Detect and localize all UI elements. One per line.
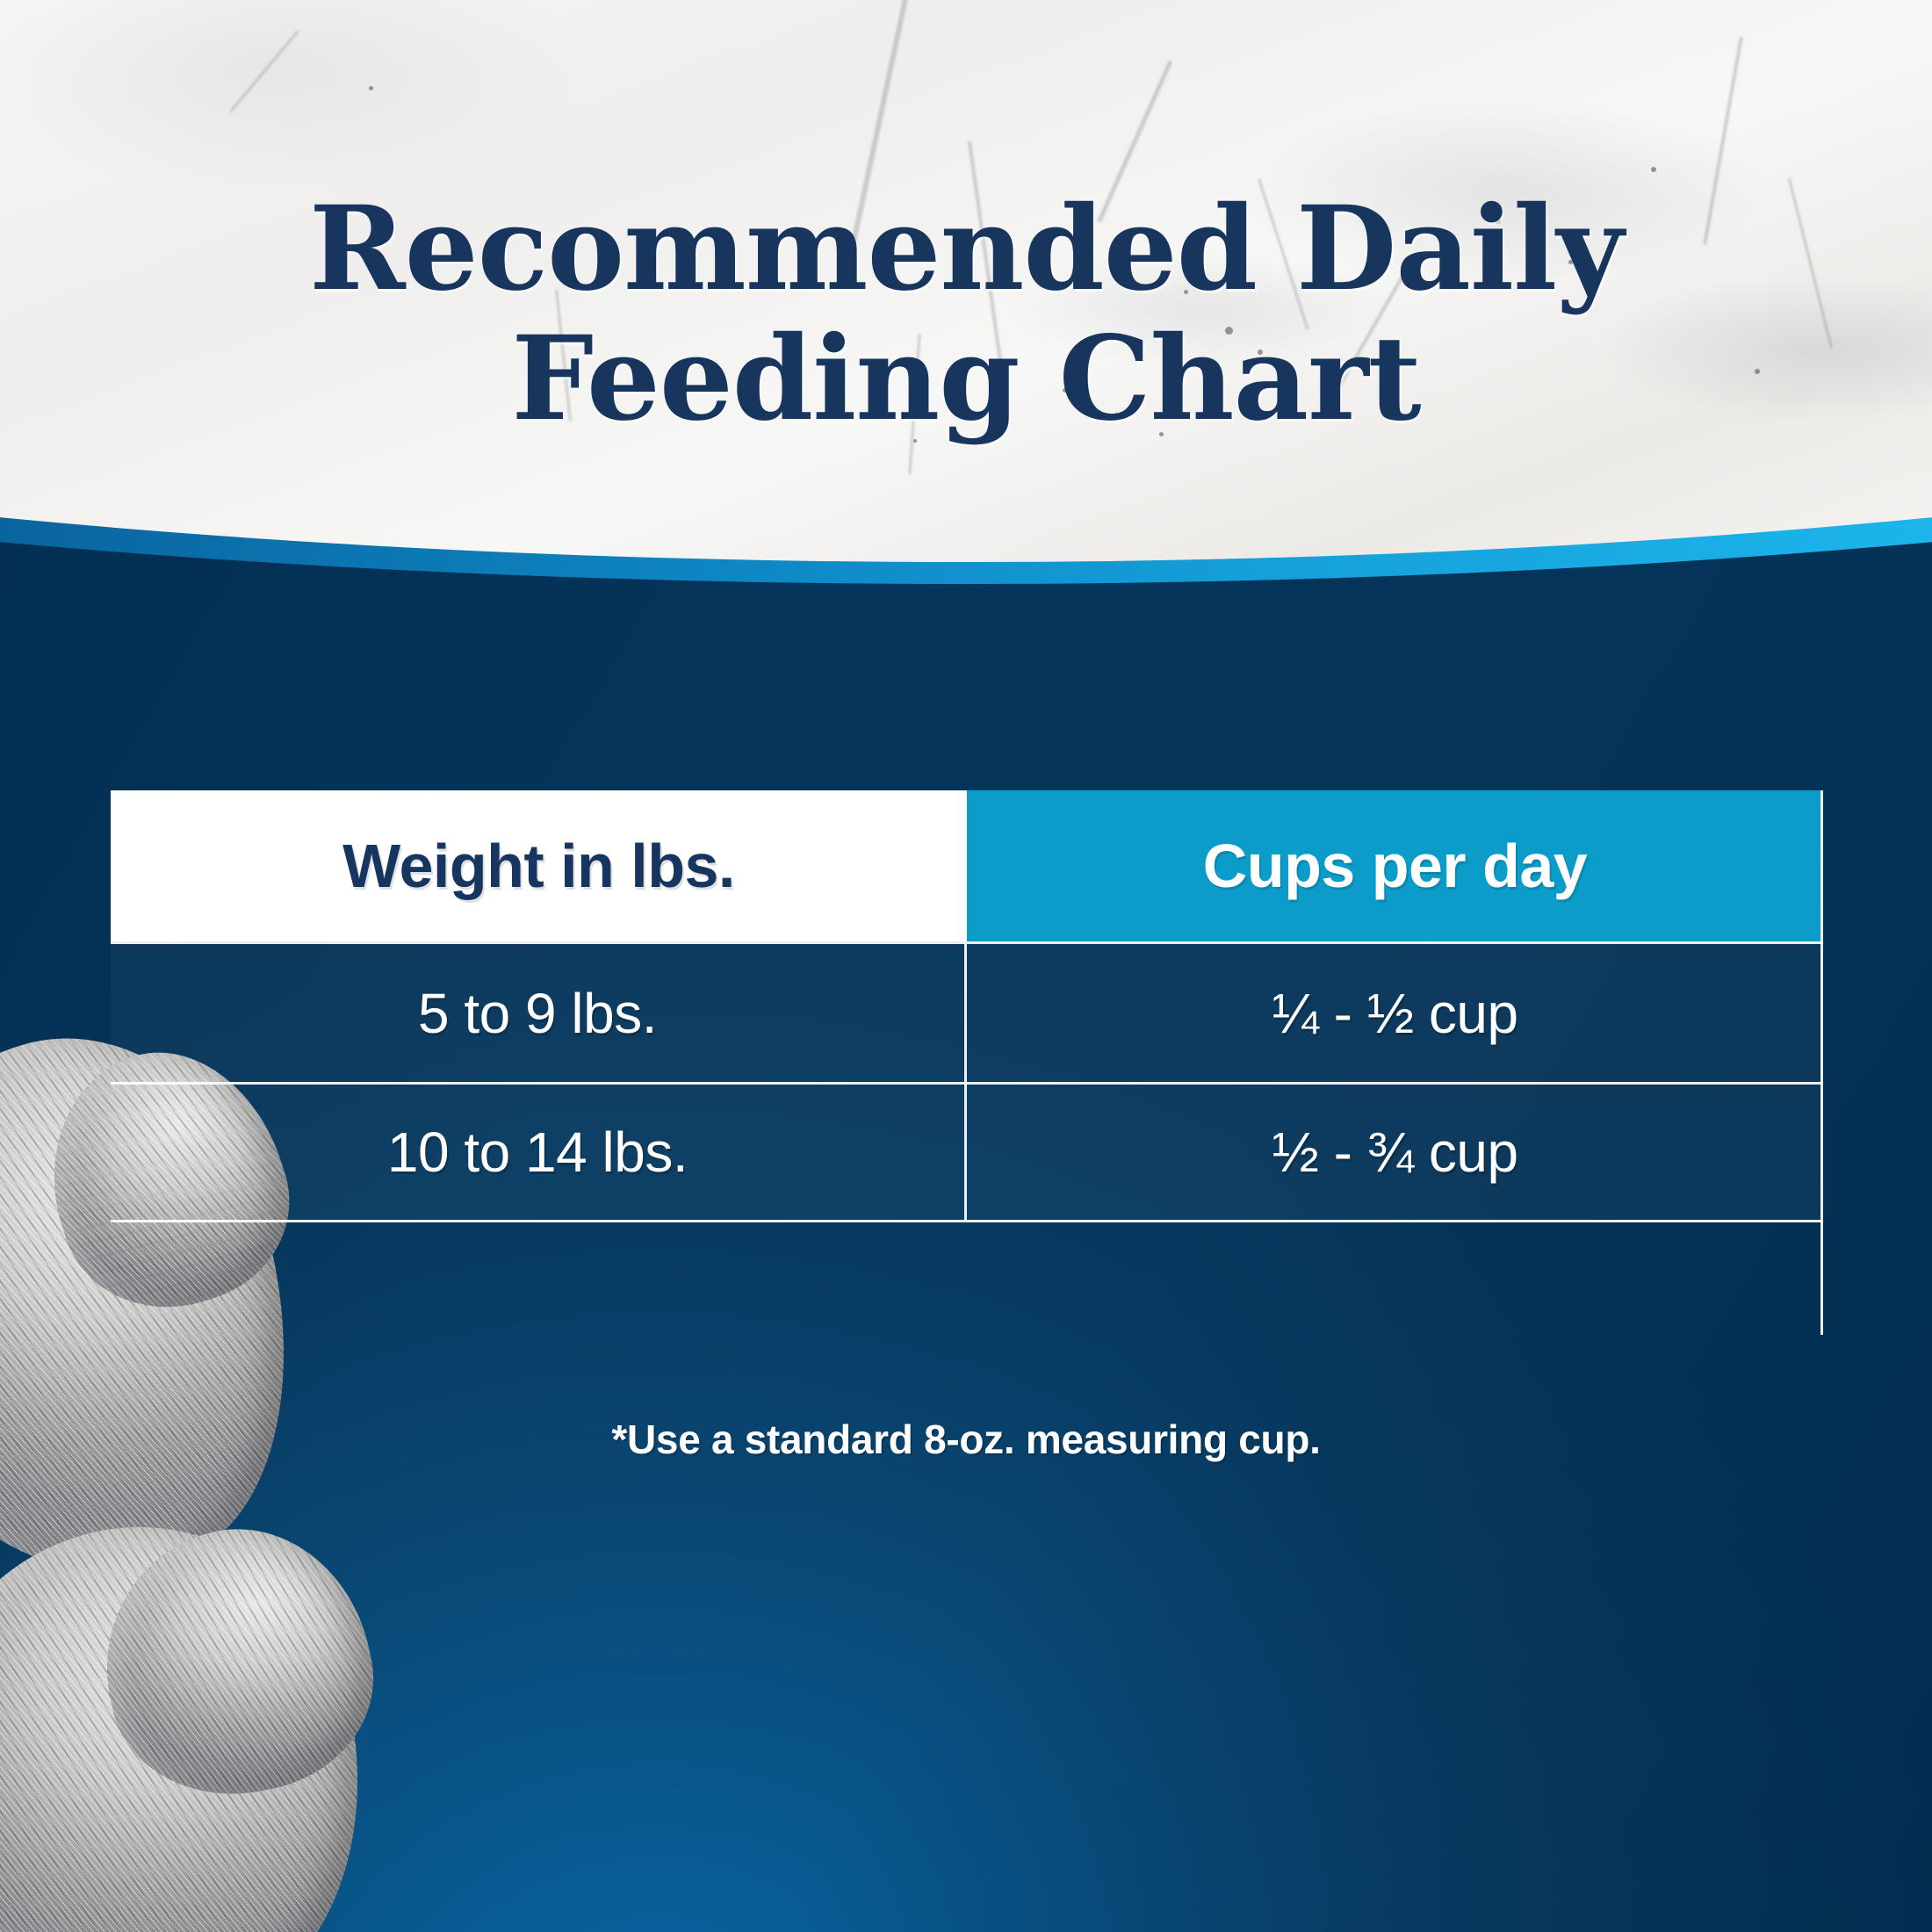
footnote-measuring-cup: *Use a standard 8-oz. measuring cup. (0, 1416, 1932, 1463)
table-row: 10 to 14 lbs. ½ - ¾ cup (111, 1082, 1823, 1222)
feeding-table: Weight in lbs. Cups per day 5 to 9 lbs. … (111, 790, 1823, 1222)
page-title: Recommended Daily Feeding Chart (0, 184, 1932, 444)
column-header-weight: Weight in lbs. (111, 790, 967, 941)
page-title-line-1: Recommended Daily (0, 184, 1932, 314)
feeding-chart-poster: Recommended Daily Feeding Chart Weight i… (0, 0, 1932, 1932)
cell-cups-row-2: ½ - ¾ cup (967, 1082, 1823, 1222)
table-row: 5 to 9 lbs. ¼ - ½ cup (111, 941, 1823, 1082)
cell-weight-row-1: 5 to 9 lbs. (111, 941, 967, 1082)
page-title-line-2: Feeding Chart (0, 314, 1932, 444)
cell-weight-row-2: 10 to 14 lbs. (111, 1082, 967, 1222)
table-right-border (1820, 790, 1823, 1335)
table-header-row: Weight in lbs. Cups per day (111, 790, 1823, 941)
column-header-cups: Cups per day (967, 790, 1823, 941)
header-banner: Recommended Daily Feeding Chart (0, 0, 1932, 562)
cell-cups-row-1: ¼ - ½ cup (967, 941, 1823, 1082)
